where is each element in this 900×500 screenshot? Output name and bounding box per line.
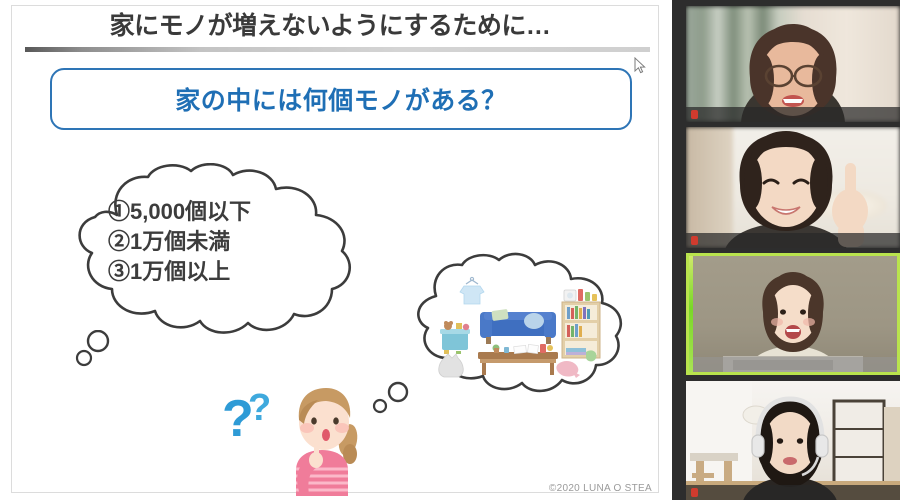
thought-cloud-tail-bubbles [75,330,135,370]
thinking-girl-illustration [276,384,368,496]
participant-tile-4[interactable] [686,381,900,500]
participant-tile-1[interactable] [686,6,900,122]
participant-name-bar-3 [689,357,897,372]
answer-options-list: ①5,000個以下 ②1万個未満 ③1万個以上 [108,197,338,287]
mouse-pointer-icon [634,57,646,75]
coffee-table-icon [478,344,558,375]
answer-option-2: ②1万個未満 [108,227,338,257]
cluttered-room-illustration [430,276,606,380]
slide-title: 家にモノが増えないようにするために… [30,10,630,42]
participant-avatar-4 [686,381,900,500]
question-text: 家の中には何個モノがある？ [52,70,630,128]
title-divider-rule [25,47,650,52]
participant-name-bar-1 [686,107,900,122]
svg-text:?: ? [248,387,271,429]
participant-video-panel [672,0,900,500]
answer-option-1: ①5,000個以下 [108,197,338,227]
mic-muted-icon [691,488,698,497]
mic-muted-icon [691,236,698,245]
participant-video-3 [689,256,897,372]
answer-option-3: ③1万個以上 [108,257,338,287]
participant-video-2 [686,127,900,248]
participant-avatar-3 [689,256,897,372]
bookshelf-icon [562,289,600,358]
participant-video-4 [686,381,900,500]
participant-avatar-1 [686,6,900,122]
mic-muted-icon [691,110,698,119]
trash-bag-icon [439,354,464,377]
participant-tile-3[interactable] [686,253,900,375]
toy-box-icon [440,321,470,354]
participant-video-1 [686,6,900,122]
room-thought-cloud [392,252,638,400]
participant-avatar-2 [686,127,900,248]
sofa-icon [480,309,556,344]
participant-name-bar-4 [686,485,900,500]
screen-share-window: 家にモノが増えないようにするために… 家の中には何個モノがある？ ①5,000個… [0,0,900,500]
presentation-slide: 家にモノが増えないようにするために… 家の中には何個モノがある？ ①5,000個… [0,0,672,500]
participant-name-bar-2 [686,233,900,248]
participant-tile-2[interactable] [686,127,900,248]
answers-thought-cloud: ①5,000個以下 ②1万個未満 ③1万個以上 [60,163,370,341]
question-box: 家の中には何個モノがある？ [50,68,632,130]
hanging-clothes-icon [460,277,484,304]
copyright-notice: ©2020 LUNA O STEA [549,483,652,494]
room-cloud-tail-bubbles [368,380,414,414]
